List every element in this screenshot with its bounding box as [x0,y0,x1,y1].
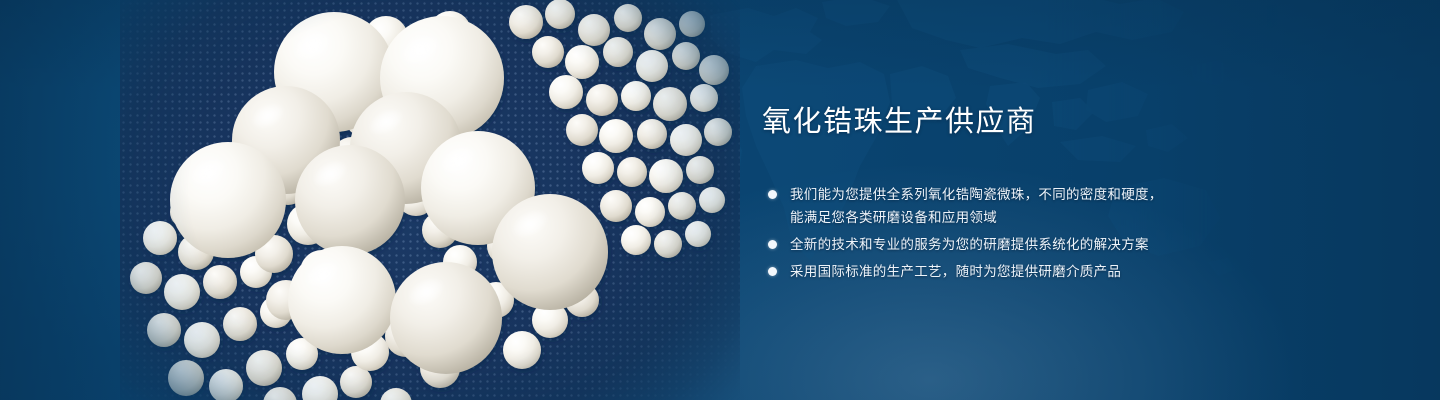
feature-list: 我们能为您提供全系列氧化锆陶瓷微珠，不同的密度和硬度， 能满足您各类研磨设备和应… [762,183,1282,283]
list-item-line-1: 我们能为您提供全系列氧化锆陶瓷微珠，不同的密度和硬度， [790,187,1163,202]
banner-copy: 氧化锆珠生产供应商 我们能为您提供全系列氧化锆陶瓷微珠，不同的密度和硬度， 能满… [762,104,1282,287]
list-item: 采用国际标准的生产工艺，随时为您提供研磨介质产品 [762,260,1282,283]
zirconia-beads-photo [120,0,740,400]
bullet-dot-icon [768,267,777,276]
list-item: 全新的技术和专业的服务为您的研磨提供系统化的解决方案 [762,233,1282,256]
hero-banner: 氧化锆珠生产供应商 我们能为您提供全系列氧化锆陶瓷微珠，不同的密度和硬度， 能满… [0,0,1440,400]
list-item-line-2: 能满足您各类研磨设备和应用领域 [790,206,1282,229]
list-item-line-1: 采用国际标准的生产工艺，随时为您提供研磨介质产品 [790,264,1121,279]
bullet-dot-icon [768,190,777,199]
bullet-dot-icon [768,240,777,249]
list-item-line-1: 全新的技术和专业的服务为您的研磨提供系统化的解决方案 [790,237,1149,252]
bead-cluster-illustration [120,0,740,400]
list-item: 我们能为您提供全系列氧化锆陶瓷微珠，不同的密度和硬度， 能满足您各类研磨设备和应… [762,183,1282,229]
page-title: 氧化锆珠生产供应商 [762,104,1282,140]
